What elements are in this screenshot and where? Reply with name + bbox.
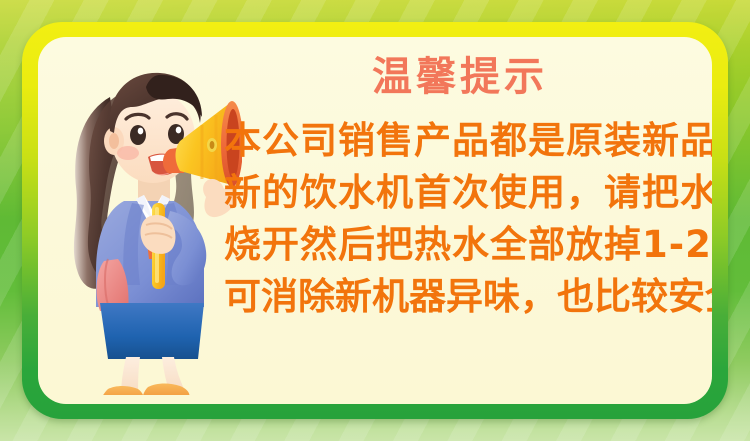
notice-line-4: 可消除新机器异味，也比较安全·卫生哦~ — [224, 271, 702, 323]
notice-lines: 本公司销售产品都是原装新品 新的饮水机首次使用，请把水 烧开然后把热水全部放掉1… — [224, 115, 702, 323]
notice-title: 温馨提示 — [224, 55, 696, 99]
notice-line-1: 本公司销售产品都是原装新品 — [224, 115, 702, 167]
notice-text-block: 温馨提示 本公司销售产品都是原装新品 新的饮水机首次使用，请把水 烧开然后把热水… — [224, 37, 706, 404]
rounded-frame-border: 温馨提示 本公司销售产品都是原装新品 新的饮水机首次使用，请把水 烧开然后把热水… — [22, 22, 728, 419]
notice-line-3: 烧开然后把热水全部放掉1-2次， — [224, 219, 702, 271]
woman-with-megaphone-illustration — [52, 45, 242, 395]
notice-line-2: 新的饮水机首次使用，请把水 — [224, 167, 702, 219]
cream-content-panel: 温馨提示 本公司销售产品都是原装新品 新的饮水机首次使用，请把水 烧开然后把热水… — [38, 37, 712, 404]
promo-banner: 温馨提示 本公司销售产品都是原装新品 新的饮水机首次使用，请把水 烧开然后把热水… — [0, 0, 750, 441]
